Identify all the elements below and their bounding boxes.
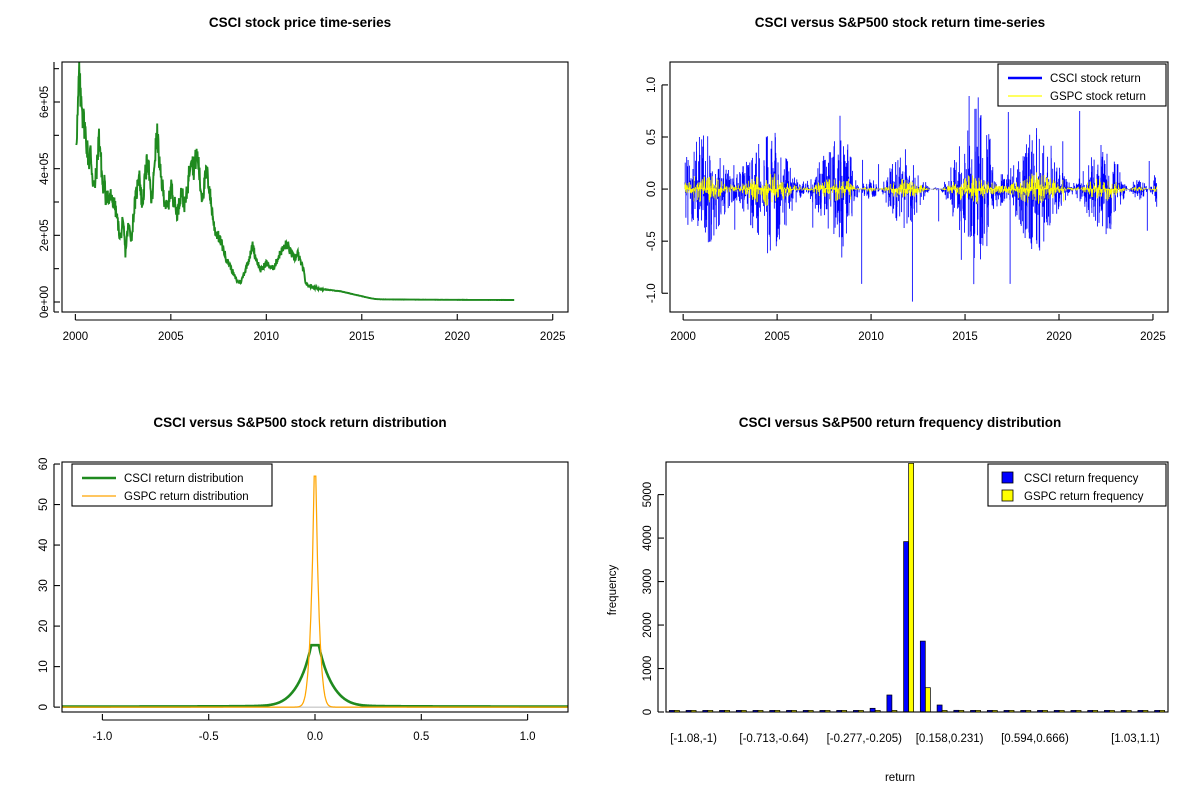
- bar-csci: [870, 708, 875, 712]
- chart-csci-stock-price: CSCI stock price time-series 0e+002e+054…: [0, 0, 600, 400]
- tick-label: 20: [38, 620, 50, 633]
- panel-csci-stock-price: CSCI stock price time-series 0e+002e+054…: [0, 0, 600, 400]
- tick-label: 2025: [1140, 331, 1166, 343]
- tick-label: 50: [38, 498, 50, 511]
- panel-title: CSCI versus S&P500 stock return distribu…: [153, 415, 446, 430]
- y-axis-label: frequency: [607, 565, 619, 616]
- legend-label[interactable]: GSPC return distribution: [124, 491, 249, 503]
- panel-csci-vs-sp500-return-timeseries: CSCI versus S&P500 stock return time-ser…: [600, 0, 1200, 400]
- tick-label: 10: [38, 660, 50, 673]
- tick-label: [0.594,0.666): [1001, 733, 1069, 745]
- tick-label: 0: [38, 704, 50, 710]
- legend[interactable]: CSCI stock returnGSPC stock return: [998, 64, 1166, 106]
- panel-title: CSCI versus S&P500 stock return time-ser…: [755, 15, 1045, 30]
- tick-label: 4e+05: [39, 153, 51, 185]
- panel-title: CSCI versus S&P500 return frequency dist…: [739, 415, 1062, 430]
- tick-label: 1000: [642, 656, 654, 682]
- tick-label: 1.0: [646, 77, 658, 93]
- legend-label[interactable]: CSCI return distribution: [124, 473, 244, 485]
- tick-label: 40: [38, 539, 50, 552]
- tick-label: [-0.277,-0.205): [827, 733, 903, 745]
- legend-label[interactable]: GSPC return frequency: [1024, 491, 1144, 503]
- tick-label: 2005: [158, 331, 184, 343]
- tick-label: 3000: [642, 569, 654, 595]
- chart-return-timeseries: CSCI versus S&P500 stock return time-ser…: [600, 0, 1200, 400]
- tick-label: 30: [38, 579, 50, 592]
- legend-label[interactable]: CSCI return frequency: [1024, 473, 1139, 485]
- tick-label: 2000: [670, 331, 696, 343]
- legend[interactable]: CSCI return frequencyGSPC return frequen…: [988, 464, 1166, 506]
- tick-label: 2000: [63, 331, 89, 343]
- tick-label: 2005: [764, 331, 790, 343]
- tick-label: 2010: [254, 331, 280, 343]
- tick-label: 1.0: [520, 731, 536, 743]
- tick-label: 2010: [858, 331, 884, 343]
- data-layer: [62, 476, 568, 707]
- tick-label: 2025: [540, 331, 566, 343]
- figure-grid: CSCI stock price time-series 0e+002e+054…: [0, 0, 1200, 800]
- x-axis-label: return: [885, 772, 915, 784]
- legend-swatch: [1002, 472, 1013, 483]
- tick-label: 60: [38, 458, 50, 471]
- tick-label: 6e+05: [39, 86, 51, 118]
- bar-csci: [937, 705, 942, 712]
- tick-label: -1.0: [646, 283, 658, 303]
- tick-label: 2020: [1046, 331, 1072, 343]
- series-csci-density: [62, 645, 568, 706]
- tick-label: 0.0: [307, 731, 323, 743]
- data-layer: [685, 96, 1157, 302]
- legend-label[interactable]: CSCI stock return: [1050, 73, 1141, 85]
- tick-label: [-1.08,-1): [670, 733, 717, 745]
- tick-label: [-0.713,-0.64): [739, 733, 808, 745]
- tick-label: 0e+00: [39, 286, 51, 318]
- axis-ticks: -1.0-0.50.00.51.020002005201020152020202…: [646, 77, 1166, 343]
- panel-return-frequency-distribution: CSCI versus S&P500 return frequency dist…: [600, 400, 1200, 800]
- legend-label[interactable]: GSPC stock return: [1050, 91, 1146, 103]
- panel-return-distribution: CSCI versus S&P500 stock return distribu…: [0, 400, 600, 800]
- tick-label: 0: [642, 709, 654, 715]
- panel-title: CSCI stock price time-series: [209, 15, 391, 30]
- series-gspc-density: [62, 476, 568, 707]
- bar-csci: [904, 542, 909, 712]
- tick-label: -0.5: [199, 731, 219, 743]
- tick-label: 2020: [444, 331, 470, 343]
- axis-ticks: 010002000300040005000[-1.08,-1)[-0.713,-…: [642, 482, 1160, 745]
- tick-label: 5000: [642, 482, 654, 508]
- chart-return-frequency: CSCI versus S&P500 return frequency dist…: [600, 400, 1200, 800]
- series-csci-stock-price: [76, 62, 514, 300]
- tick-label: 0.0: [646, 181, 658, 197]
- tick-label: 0.5: [646, 129, 658, 145]
- bar-gspc: [925, 688, 930, 712]
- tick-label: [1.03,1.1): [1111, 733, 1160, 745]
- legend-swatch: [1002, 490, 1013, 501]
- bar-csci: [887, 695, 892, 712]
- tick-label: 2e+05: [39, 219, 51, 251]
- tick-label: 0.5: [413, 731, 429, 743]
- tick-label: 2015: [952, 331, 978, 343]
- chart-return-distribution: CSCI versus S&P500 stock return distribu…: [0, 400, 600, 800]
- tick-label: 2000: [642, 612, 654, 638]
- tick-label: 4000: [642, 525, 654, 551]
- data-layer: [76, 62, 514, 300]
- tick-label: 2015: [349, 331, 375, 343]
- legend[interactable]: CSCI return distributionGSPC return dist…: [72, 464, 272, 506]
- tick-label: [0.158,0.231): [916, 733, 984, 745]
- bar-gspc: [909, 463, 914, 712]
- tick-label: -1.0: [92, 731, 112, 743]
- bar-csci: [920, 641, 925, 712]
- tick-label: -0.5: [646, 231, 658, 251]
